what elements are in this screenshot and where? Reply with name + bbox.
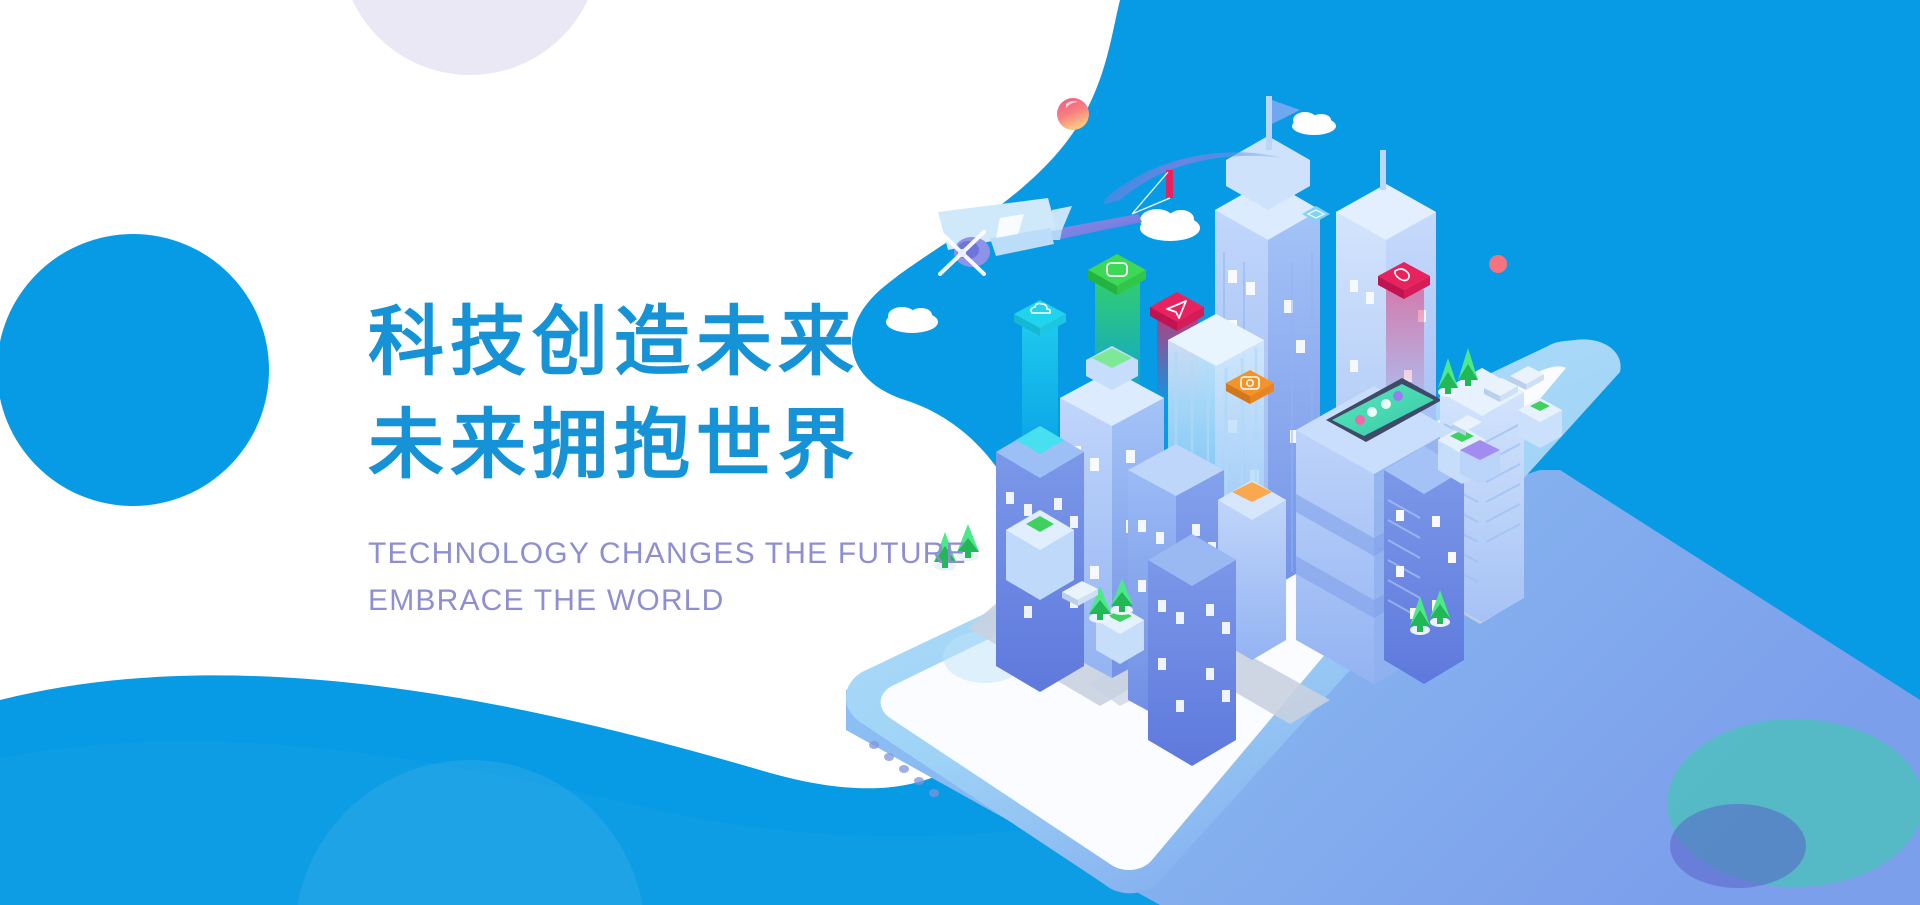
cloud-right bbox=[1292, 112, 1336, 135]
building-right-front-tower bbox=[1384, 446, 1464, 684]
headline-line-2: 未来拥抱世界 bbox=[368, 395, 1068, 498]
building-front-dark-tower bbox=[1148, 534, 1236, 766]
decor-blobs bbox=[1667, 719, 1920, 888]
subtitle: TECHNOLOGY CHANGES THE FUTURE EMBRACE TH… bbox=[368, 531, 1068, 624]
subtitle-line-2: EMBRACE THE WORLD bbox=[368, 578, 1068, 625]
hero-text-block: 科技创造未来 未来拥抱世界 TECHNOLOGY CHANGES THE FUT… bbox=[368, 292, 1068, 624]
plane-banner-flag bbox=[1166, 170, 1173, 198]
tree bbox=[1438, 358, 1458, 397]
purple-blob bbox=[1670, 804, 1806, 888]
headline: 科技创造未来 未来拥抱世界 bbox=[368, 292, 1068, 497]
subtitle-line-1: TECHNOLOGY CHANGES THE FUTURE bbox=[368, 531, 1068, 578]
tree bbox=[1458, 348, 1478, 389]
pink-dot-small bbox=[1489, 255, 1507, 273]
cloud-mid bbox=[1140, 209, 1200, 241]
hero-banner: 科技创造未来 未来拥抱世界 TECHNOLOGY CHANGES THE FUT… bbox=[0, 0, 1920, 905]
headline-line-1: 科技创造未来 bbox=[368, 292, 1068, 395]
